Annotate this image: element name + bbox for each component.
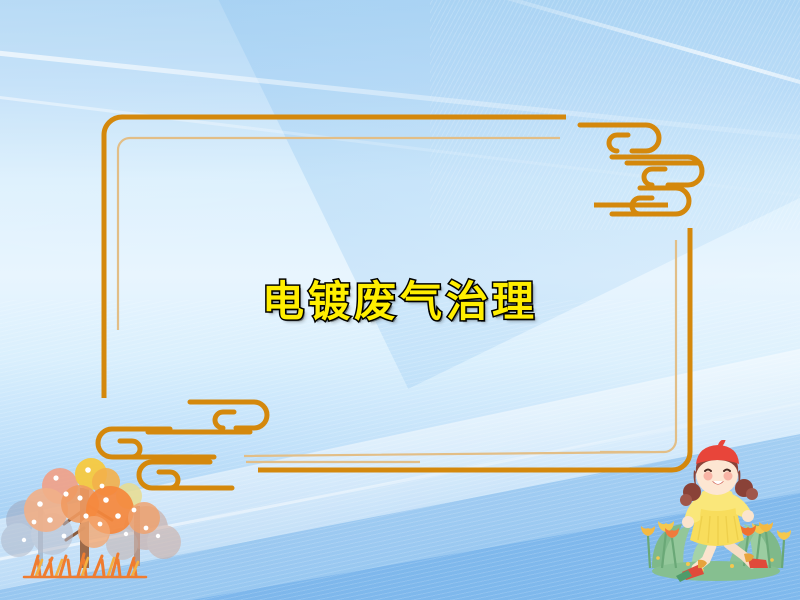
autumn-trees-illustration bbox=[0, 448, 184, 600]
cloud-motif-top-right bbox=[580, 125, 702, 214]
slide-title: 电镀废气治理 bbox=[0, 268, 800, 329]
girl-figure bbox=[676, 440, 768, 582]
slide-canvas: 电镀废气治理 bbox=[0, 0, 800, 600]
girl-with-flowers-illustration bbox=[632, 440, 800, 600]
slide-title-text: 电镀废气治理 bbox=[262, 268, 538, 329]
